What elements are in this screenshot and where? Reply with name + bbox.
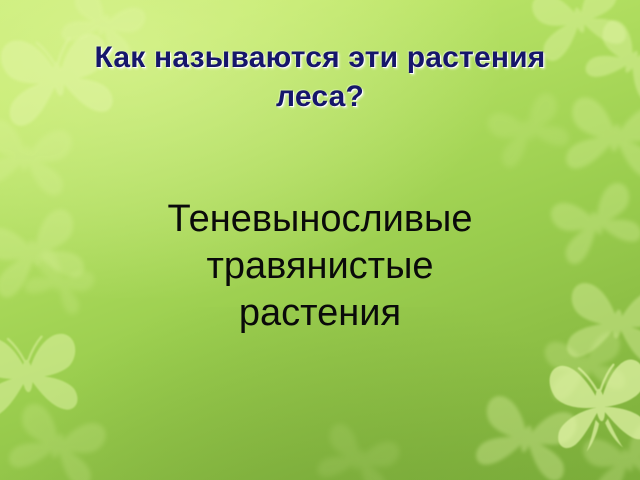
butterfly-icon — [304, 406, 414, 480]
slide-canvas: Как называются эти растения леса? Теневы… — [0, 0, 640, 480]
slide-title: Как называются эти растения леса? — [38, 38, 602, 116]
butterfly-icon — [568, 401, 640, 480]
butterfly-icon — [0, 382, 123, 480]
butterfly-icon — [543, 347, 640, 459]
butterfly-icon — [461, 374, 593, 480]
slide-body-text: Теневыносливые травянистые растения — [70, 196, 570, 337]
